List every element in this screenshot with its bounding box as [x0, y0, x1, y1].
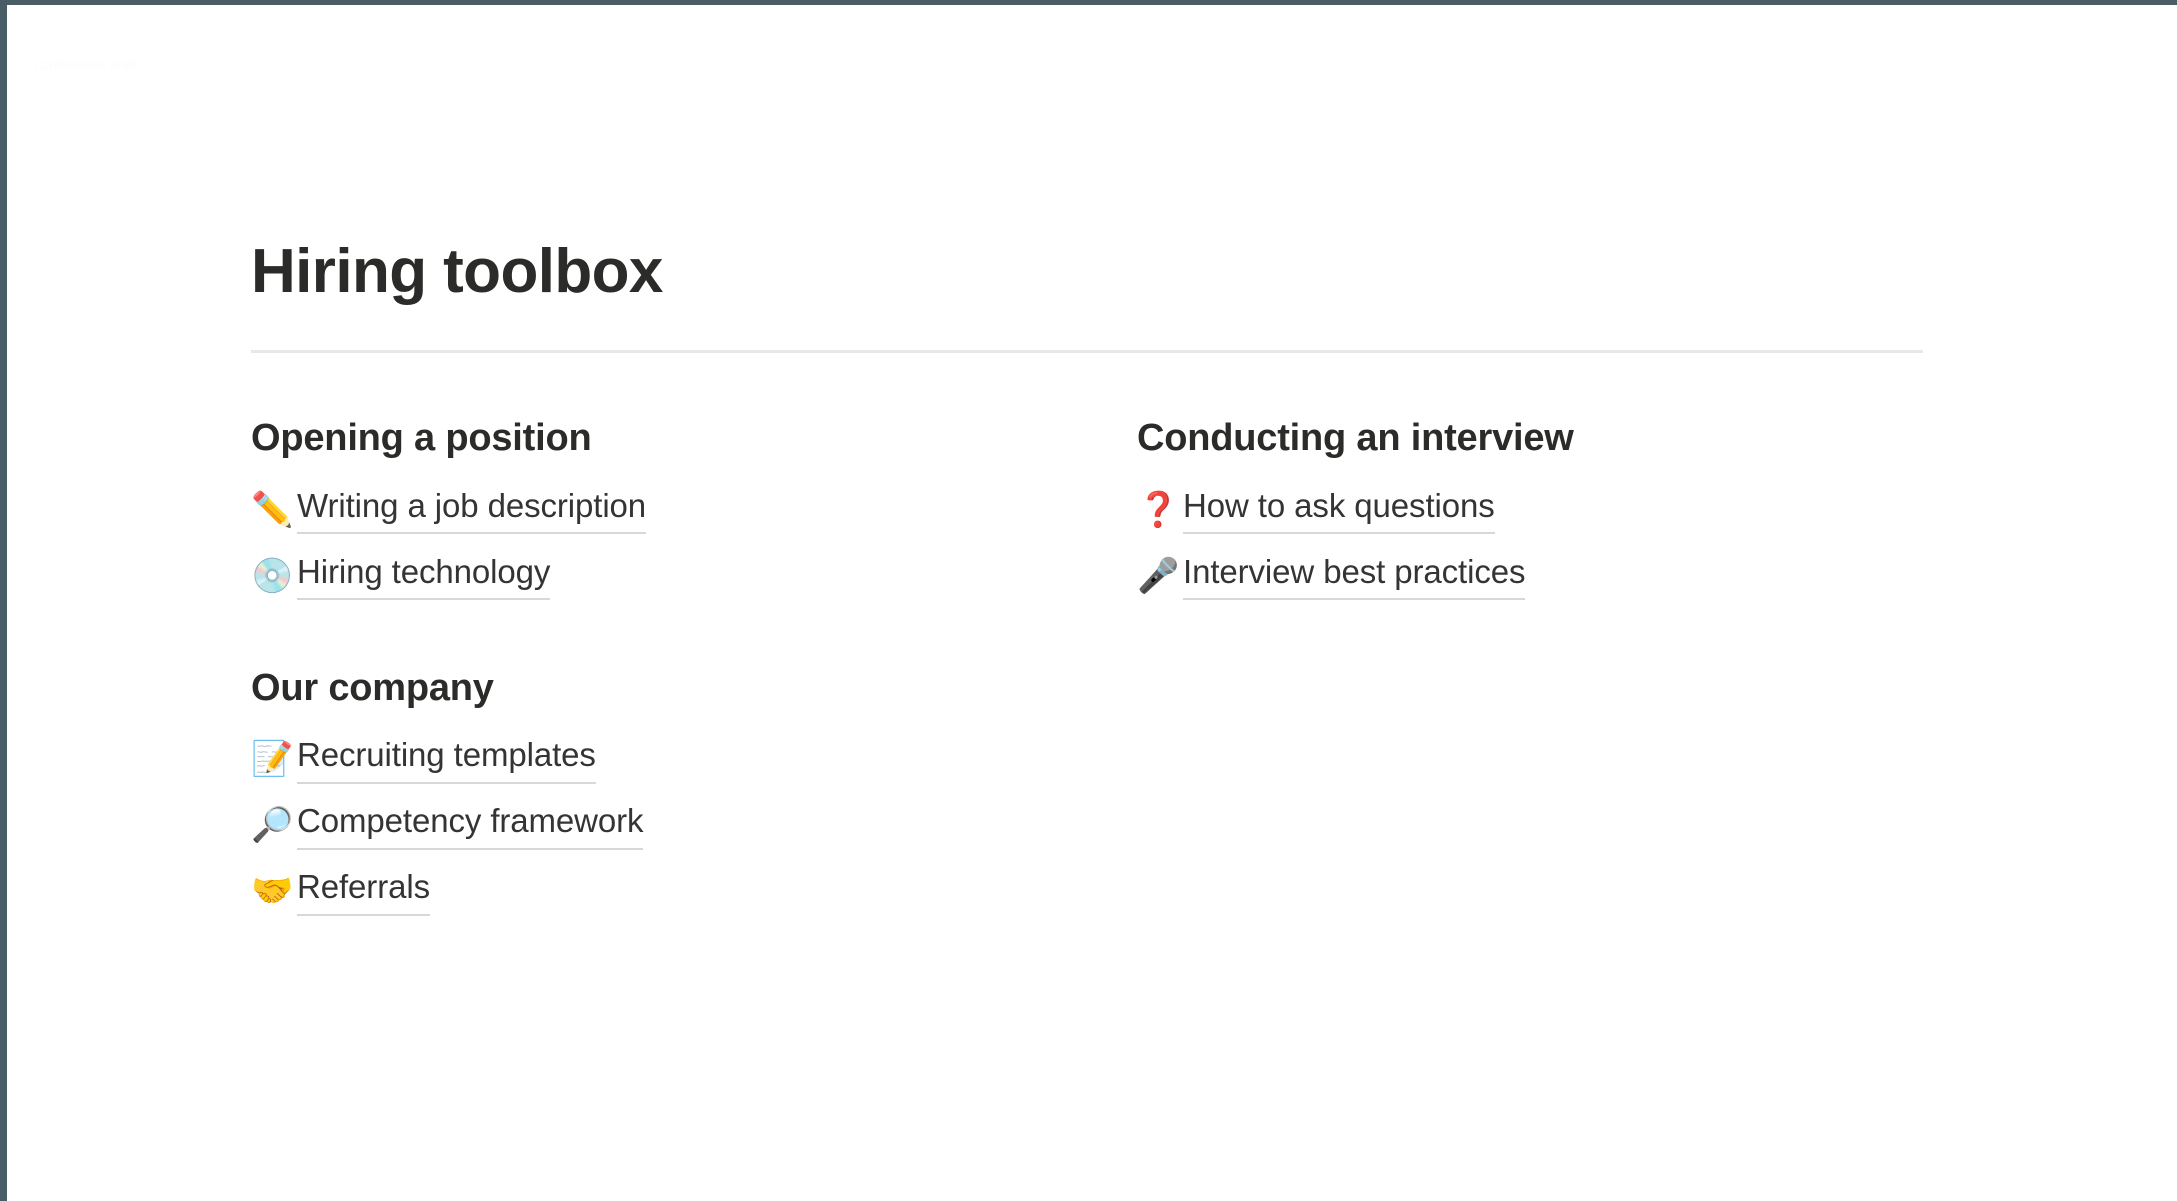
- link-hiring-technology[interactable]: Hiring technology: [297, 552, 550, 601]
- section-conducting-an-interview: Conducting an interview ❓ How to ask que…: [1137, 415, 1927, 609]
- list-item[interactable]: 📝 Recruiting templates: [251, 726, 1137, 792]
- microphone-icon: 🎤: [1137, 559, 1183, 593]
- page-title: Hiring toolbox: [251, 5, 1931, 306]
- title-divider: [251, 350, 1923, 353]
- column-left: Opening a position ✏️ Writing a job desc…: [251, 415, 1137, 924]
- section-title: Our company: [251, 665, 1137, 713]
- link-recruiting-templates[interactable]: Recruiting templates: [297, 735, 596, 784]
- list-item[interactable]: ❓ How to ask questions: [1137, 477, 1927, 543]
- link-how-to-ask-questions[interactable]: How to ask questions: [1183, 486, 1495, 535]
- link-referrals[interactable]: Referrals: [297, 867, 430, 916]
- watermark-text: confidential draft: [35, 57, 138, 72]
- link-competency-framework[interactable]: Competency framework: [297, 801, 643, 850]
- list-item[interactable]: 🔎 Competency framework: [251, 792, 1137, 858]
- section-opening-a-position: Opening a position ✏️ Writing a job desc…: [251, 415, 1137, 609]
- list-item[interactable]: ✏️ Writing a job description: [251, 477, 1137, 543]
- column-right: Conducting an interview ❓ How to ask que…: [1137, 415, 1927, 924]
- page-content: Hiring toolbox Opening a position ✏️ Wri…: [251, 5, 1931, 924]
- handshake-icon: 🤝: [251, 874, 297, 908]
- section-title: Conducting an interview: [1137, 415, 1927, 463]
- list-item[interactable]: 💿 Hiring technology: [251, 543, 1137, 609]
- question-mark-icon: ❓: [1137, 493, 1183, 527]
- link-writing-a-job-description[interactable]: Writing a job description: [297, 486, 646, 535]
- memo-icon: 📝: [251, 742, 297, 776]
- section-our-company: Our company 📝 Recruiting templates 🔎 Com…: [251, 665, 1137, 925]
- pencil-icon: ✏️: [251, 493, 297, 527]
- magnifying-glass-icon: 🔎: [251, 808, 297, 842]
- section-title: Opening a position: [251, 415, 1137, 463]
- list-item[interactable]: 🤝 Referrals: [251, 858, 1137, 924]
- page-root: confidential draft Hiring toolbox Openin…: [0, 0, 2177, 1201]
- optical-disk-icon: 💿: [251, 559, 297, 593]
- link-interview-best-practices[interactable]: Interview best practices: [1183, 552, 1525, 601]
- section-columns: Opening a position ✏️ Writing a job desc…: [251, 415, 1931, 924]
- list-item[interactable]: 🎤 Interview best practices: [1137, 543, 1927, 609]
